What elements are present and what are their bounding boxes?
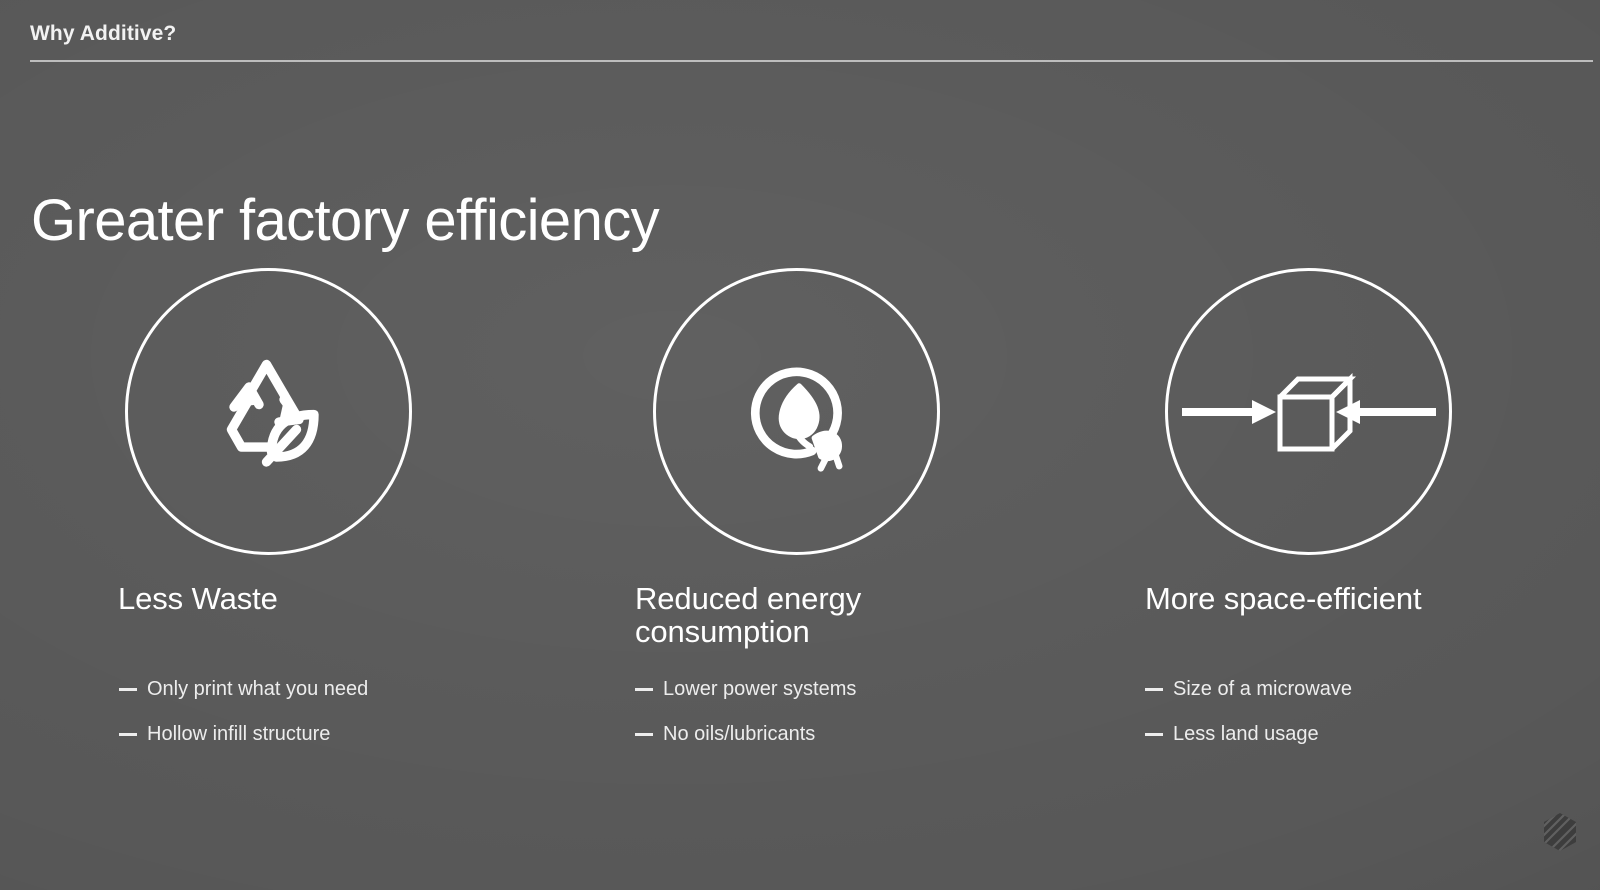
bullet-dash-icon bbox=[119, 688, 137, 691]
list-item-label: Hollow infill structure bbox=[147, 723, 330, 746]
bullet-dash-icon bbox=[1145, 733, 1163, 736]
bullet-dash-icon bbox=[635, 688, 653, 691]
list-item-label: No oils/lubricants bbox=[663, 723, 815, 746]
column-bullets: Lower power systems No oils/lubricants bbox=[635, 678, 856, 768]
column-bullets: Only print what you need Hollow infill s… bbox=[119, 678, 368, 768]
eco-energy-plug-icon bbox=[656, 268, 937, 555]
recycle-leaf-icon bbox=[128, 268, 409, 555]
feature-columns: Less Waste Only print what you need Holl… bbox=[0, 260, 1600, 820]
cube-compress-arrows-icon bbox=[1165, 268, 1452, 555]
list-item-label: Lower power systems bbox=[663, 678, 856, 701]
list-item-label: Only print what you need bbox=[147, 678, 368, 701]
column-bullets: Size of a microwave Less land usage bbox=[1145, 678, 1352, 768]
bullet-dash-icon bbox=[635, 733, 653, 736]
slide: Why Additive? Greater factory efficiency bbox=[0, 0, 1600, 890]
list-item: Less land usage bbox=[1145, 723, 1352, 746]
page-title: Greater factory efficiency bbox=[31, 187, 659, 254]
bullet-dash-icon bbox=[1145, 688, 1163, 691]
list-item: Size of a microwave bbox=[1145, 678, 1352, 701]
column-heading: More space-efficient bbox=[1145, 582, 1422, 615]
icon-circle bbox=[653, 268, 940, 555]
bullet-dash-icon bbox=[119, 733, 137, 736]
list-item: Lower power systems bbox=[635, 678, 856, 701]
icon-circle bbox=[1165, 268, 1452, 555]
column-heading: Less Waste bbox=[118, 582, 278, 615]
column-heading: Reduced energy consumption bbox=[635, 582, 965, 649]
list-item: Hollow infill structure bbox=[119, 723, 368, 746]
list-item: Only print what you need bbox=[119, 678, 368, 701]
list-item-label: Less land usage bbox=[1173, 723, 1319, 746]
company-hex-logo bbox=[1542, 812, 1578, 852]
list-item: No oils/lubricants bbox=[635, 723, 856, 746]
list-item-label: Size of a microwave bbox=[1173, 678, 1352, 701]
header-divider bbox=[30, 60, 1593, 62]
slide-eyebrow: Why Additive? bbox=[30, 22, 176, 46]
icon-circle bbox=[125, 268, 412, 555]
